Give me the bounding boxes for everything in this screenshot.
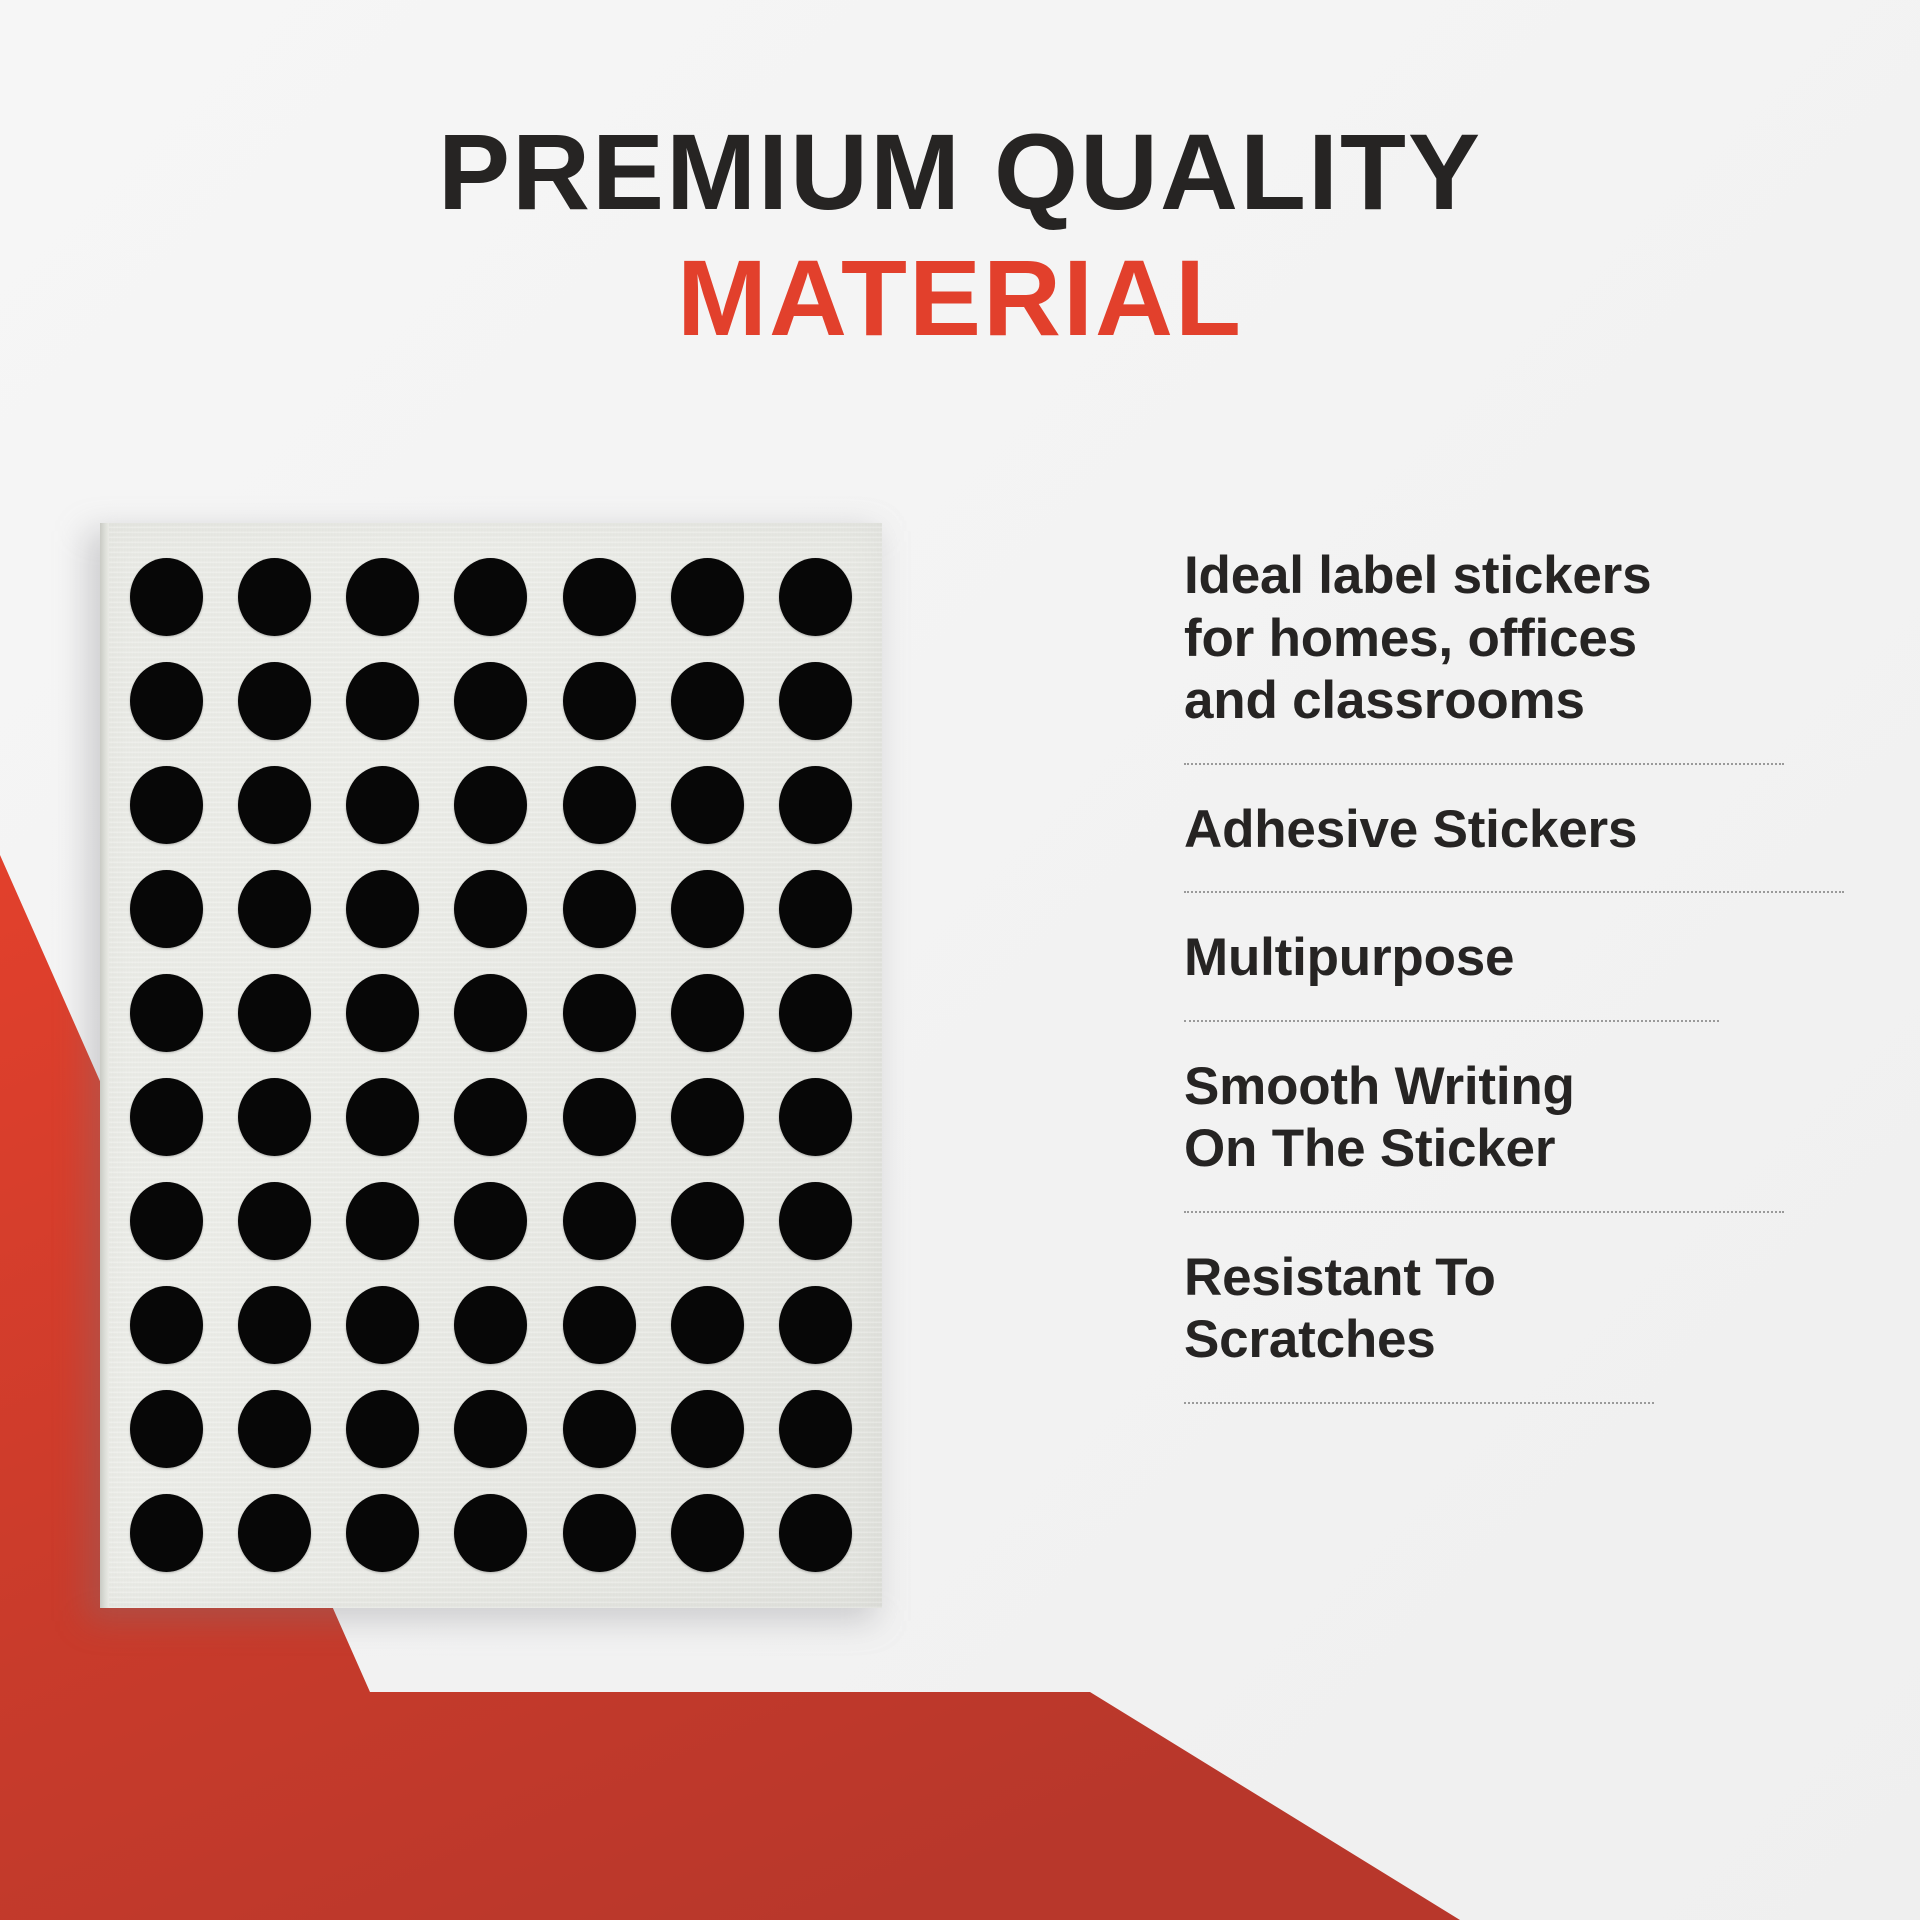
sticker-dot (130, 1182, 203, 1260)
sticker-dot (563, 1286, 636, 1364)
feature-item-1: Adhesive Stickers (1184, 799, 1884, 862)
sticker-dot (671, 662, 744, 740)
feature-divider-3 (1184, 1211, 1784, 1213)
sticker-dot (779, 974, 852, 1052)
sticker-dot (454, 870, 527, 948)
sticker-dot (454, 662, 527, 740)
sticker-dot (130, 1390, 203, 1468)
sticker-dot (671, 558, 744, 636)
sticker-dot (563, 1182, 636, 1260)
sticker-dot (238, 558, 311, 636)
sticker-dot (454, 1078, 527, 1156)
feature-list: Ideal label stickers for homes, offices … (1184, 545, 1884, 1438)
sticker-dot (238, 766, 311, 844)
sticker-dot (779, 1078, 852, 1156)
sticker-dot (238, 1390, 311, 1468)
title-line-primary: PREMIUM QUALITY (0, 118, 1920, 226)
sticker-dot (238, 1182, 311, 1260)
sticker-dot (671, 1390, 744, 1468)
sticker-dot (671, 1182, 744, 1260)
sticker-dot (454, 974, 527, 1052)
sticker-dot (563, 766, 636, 844)
sticker-dot (238, 974, 311, 1052)
title-line-accent: MATERIAL (0, 244, 1920, 352)
feature-text-0: Ideal label stickers for homes, offices … (1184, 545, 1884, 733)
sticker-dot (238, 1078, 311, 1156)
product-image (100, 523, 882, 1608)
feature-item-3: Smooth Writing On The Sticker (1184, 1056, 1884, 1181)
feature-item-0: Ideal label stickers for homes, offices … (1184, 545, 1884, 733)
sticker-dot (346, 974, 419, 1052)
sticker-dot (779, 662, 852, 740)
sticker-dot (130, 1078, 203, 1156)
sticker-dot (779, 558, 852, 636)
sticker-dot (346, 1390, 419, 1468)
page-title: PREMIUM QUALITY MATERIAL (0, 118, 1920, 352)
sticker-dot (671, 870, 744, 948)
sticker-dot (779, 1182, 852, 1260)
feature-divider-4 (1184, 1402, 1654, 1404)
sticker-dot (779, 1390, 852, 1468)
sticker-dot (238, 1286, 311, 1364)
sticker-dot (346, 870, 419, 948)
sticker-dot (671, 1494, 744, 1572)
feature-text-3: Smooth Writing On The Sticker (1184, 1056, 1884, 1181)
sticker-dot (130, 870, 203, 948)
sticker-dot (779, 870, 852, 948)
sticker-dot (238, 662, 311, 740)
sticker-dot (454, 1182, 527, 1260)
feature-text-2: Multipurpose (1184, 927, 1884, 990)
sticker-dot-grid (112, 545, 870, 1585)
sticker-dot (671, 1286, 744, 1364)
sticker-dot (346, 1078, 419, 1156)
feature-item-4: Resistant To Scratches (1184, 1247, 1884, 1372)
feature-item-2: Multipurpose (1184, 927, 1884, 990)
feature-divider-1 (1184, 891, 1844, 893)
infographic-canvas: PREMIUM QUALITY MATERIAL Ideal label sti… (0, 0, 1920, 1920)
sticker-dot (563, 1078, 636, 1156)
feature-text-1: Adhesive Stickers (1184, 799, 1884, 862)
sticker-dot (238, 870, 311, 948)
sticker-dot (130, 662, 203, 740)
sticker-dot (779, 766, 852, 844)
sticker-dot (238, 1494, 311, 1572)
sticker-dot (346, 558, 419, 636)
sticker-dot (563, 1390, 636, 1468)
sticker-dot (130, 1494, 203, 1572)
sticker-dot (454, 558, 527, 636)
sticker-dot (563, 974, 636, 1052)
sticker-dot (563, 870, 636, 948)
sticker-dot (671, 766, 744, 844)
sticker-dot (454, 766, 527, 844)
sticker-dot (454, 1494, 527, 1572)
feature-text-4: Resistant To Scratches (1184, 1247, 1884, 1372)
feature-divider-2 (1184, 1020, 1719, 1022)
sticker-dot (346, 766, 419, 844)
feature-divider-0 (1184, 763, 1784, 765)
sheet-edge (100, 523, 109, 1608)
sticker-dot (779, 1286, 852, 1364)
sticker-dot (779, 1494, 852, 1572)
sticker-dot (671, 974, 744, 1052)
sticker-dot (346, 1286, 419, 1364)
sticker-dot (346, 1182, 419, 1260)
sticker-dot (346, 1494, 419, 1572)
sticker-dot (130, 974, 203, 1052)
sticker-dot (346, 662, 419, 740)
sticker-dot (130, 558, 203, 636)
sticker-dot (671, 1078, 744, 1156)
sticker-dot (130, 766, 203, 844)
sticker-dot (454, 1286, 527, 1364)
sticker-dot (563, 558, 636, 636)
sticker-sheet (100, 523, 882, 1608)
sticker-dot (130, 1286, 203, 1364)
sticker-dot (563, 662, 636, 740)
sticker-dot (454, 1390, 527, 1468)
sticker-dot (563, 1494, 636, 1572)
